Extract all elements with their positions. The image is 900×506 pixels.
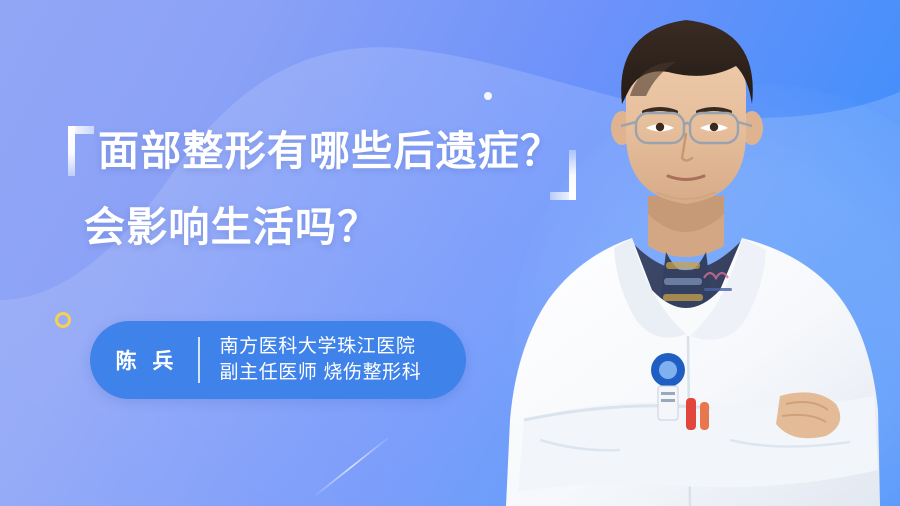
headline-row-1: 面部整形有哪些后遗症？ — [68, 118, 588, 184]
headline-block: 面部整形有哪些后遗症？ 会影响生活吗？ — [68, 118, 588, 260]
doctor-credential-badge: 陈 兵 南方医科大学珠江医院 副主任医师 烧伤整形科 — [90, 321, 466, 399]
doctor-title-department: 副主任医师 烧伤整形科 — [220, 360, 422, 386]
video-cover-card: 面部整形有哪些后遗症？ 会影响生活吗？ 陈 兵 南方医科大学珠江医院 副主任医师… — [0, 0, 900, 506]
doctor-hospital: 南方医科大学珠江医院 — [220, 334, 422, 360]
headline-line-2: 会影响生活吗？ — [68, 194, 588, 260]
headline-line-1: 面部整形有哪些后遗症？ — [68, 118, 588, 184]
doctor-body — [506, 20, 880, 506]
doctor-affiliation: 南方医科大学珠江医院 副主任医师 烧伤整形科 — [200, 334, 422, 386]
doctor-name: 陈 兵 — [90, 345, 198, 375]
